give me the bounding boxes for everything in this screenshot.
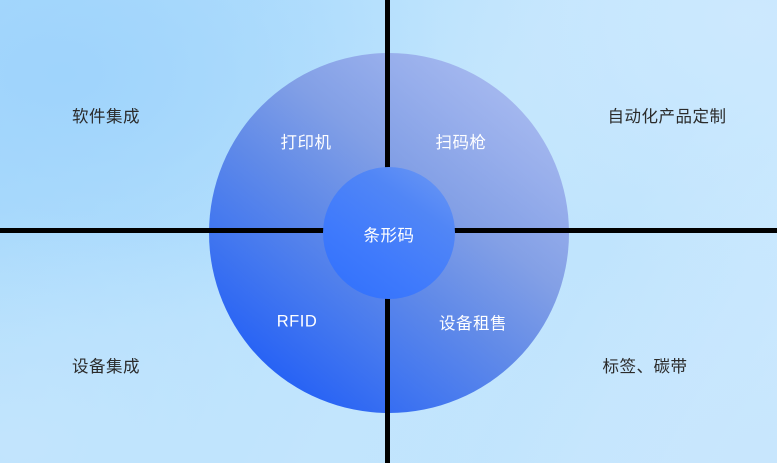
quadrant-label-labels-ribbons: 标签、碳带 xyxy=(603,353,688,377)
quadrant-label-software-integration: 软件集成 xyxy=(72,103,140,127)
diagram-canvas: 软件集成 自动化产品定制 设备集成 标签、碳带 打印机 扫码枪 RFID 设备租… xyxy=(0,0,777,463)
ring-label-scanner: 扫码枪 xyxy=(436,129,487,153)
quadrant-label-automation-custom: 自动化产品定制 xyxy=(608,103,727,127)
quadrant-label-device-integration: 设备集成 xyxy=(72,353,140,377)
center-label-barcode: 条形码 xyxy=(364,222,415,246)
ring-label-printer: 打印机 xyxy=(281,129,332,153)
ring-label-rfid: RFID xyxy=(277,313,318,332)
ring-label-rental: 设备租售 xyxy=(439,310,507,334)
